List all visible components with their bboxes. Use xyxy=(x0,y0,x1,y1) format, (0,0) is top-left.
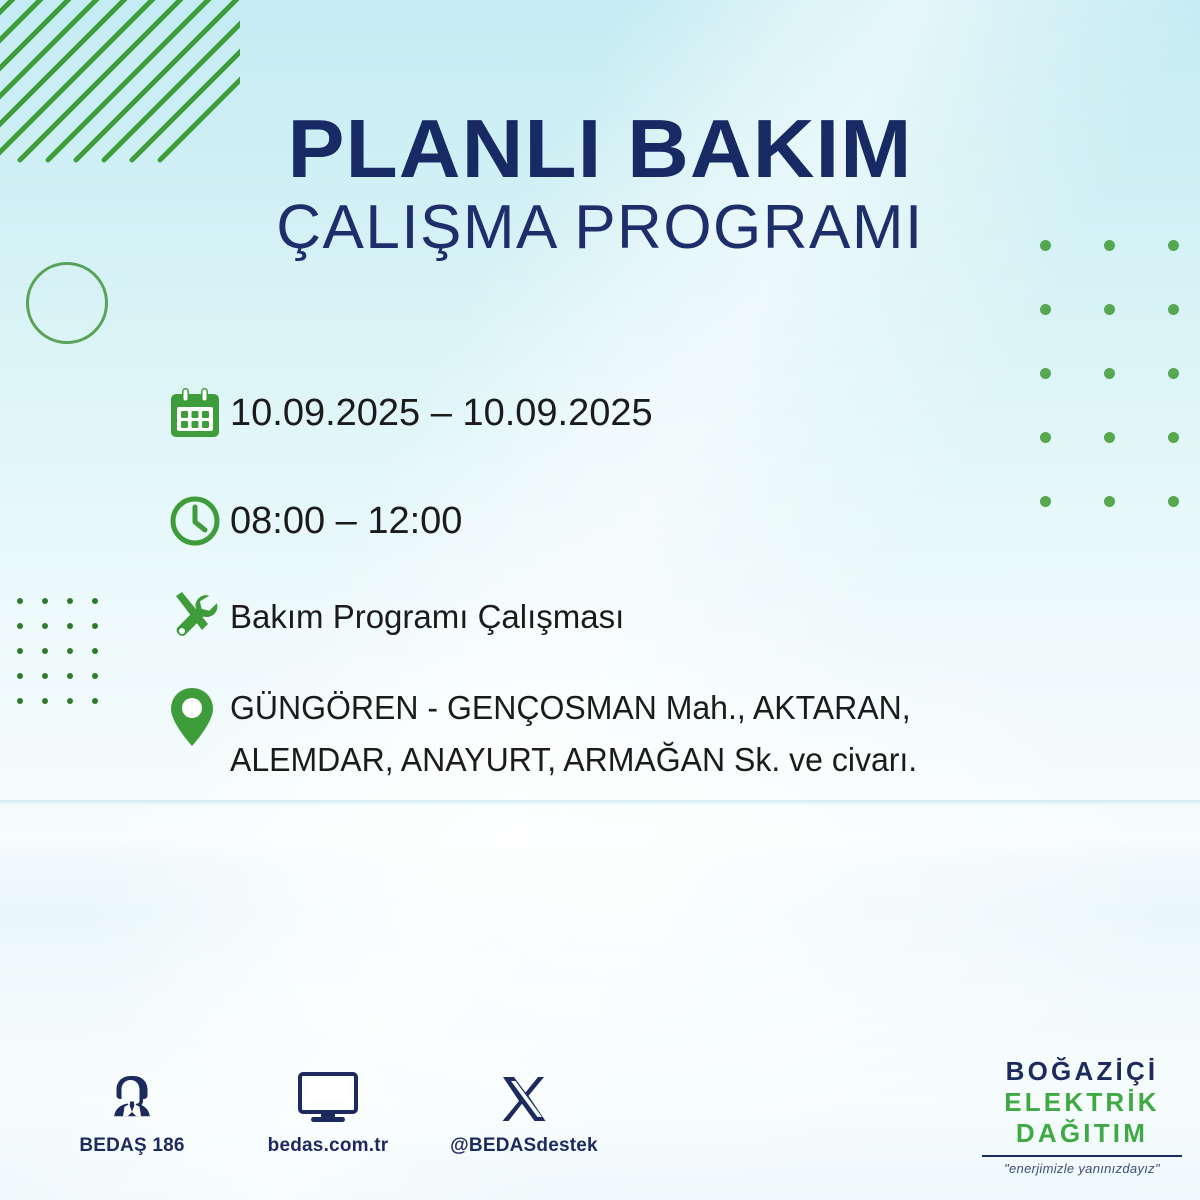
info-row-date: 10.09.2025 – 10.09.2025 xyxy=(168,382,1128,482)
location-line-2: ALEMDAR, ANAYURT, ARMAĞAN Sk. ve civarı. xyxy=(230,734,917,786)
page-subtitle: ÇALIŞMA PROGRAMI xyxy=(0,195,1200,262)
info-list: 10.09.2025 – 10.09.2025 08:00 – 12:00 xyxy=(168,382,1128,794)
info-row-work-type: Bakım Programı Çalışması xyxy=(168,586,1128,674)
calendar-icon xyxy=(168,382,230,444)
map-pin-icon xyxy=(168,682,230,748)
brand-logo-tagline: "enerjimizle yanınızdayız" xyxy=(976,1161,1188,1176)
location-line-1: GÜNGÖREN - GENÇOSMAN Mah., AKTARAN, xyxy=(230,682,917,734)
date-range-value: 10.09.2025 – 10.09.2025 xyxy=(230,382,653,444)
tools-icon xyxy=(168,586,230,648)
x-social-icon xyxy=(448,1068,600,1124)
monitor-icon xyxy=(252,1068,404,1124)
poster-heading: PLANLI BAKIM ÇALIŞMA PROGRAMI xyxy=(0,108,1200,262)
footer-contacts: BEDAŞ 186 bedas.com.tr xyxy=(56,1068,600,1157)
brand-logo-line-1: BOĞAZİÇİ xyxy=(976,1056,1188,1087)
info-row-location: GÜNGÖREN - GENÇOSMAN Mah., AKTARAN, ALEM… xyxy=(168,682,1128,786)
contact-website-label: bedas.com.tr xyxy=(252,1135,404,1157)
clock-icon xyxy=(168,490,230,552)
brand-logo: BOĞAZİÇİ ELEKTRİK DAĞITIM "enerjimizle y… xyxy=(976,1056,1188,1176)
work-type-value: Bakım Programı Çalışması xyxy=(230,586,624,648)
brand-logo-line-3: DAĞITIM xyxy=(976,1118,1188,1149)
contact-social[interactable]: @BEDASdestek xyxy=(448,1068,600,1157)
page-title: PLANLI BAKIM xyxy=(0,108,1200,189)
contact-phone[interactable]: BEDAŞ 186 xyxy=(56,1068,208,1157)
contact-website[interactable]: bedas.com.tr xyxy=(252,1068,404,1157)
planned-maintenance-poster: PLANLI BAKIM ÇALIŞMA PROGRAMI xyxy=(0,0,1200,1200)
circle-outline-decoration xyxy=(26,262,108,344)
info-row-time: 08:00 – 12:00 xyxy=(168,490,1128,578)
dot-grid-left-decoration xyxy=(17,598,117,723)
background-band-divider xyxy=(0,800,1200,806)
brand-logo-line-2: ELEKTRİK xyxy=(976,1087,1188,1118)
brand-logo-divider xyxy=(982,1155,1182,1157)
location-value: GÜNGÖREN - GENÇOSMAN Mah., AKTARAN, ALEM… xyxy=(230,682,917,786)
time-range-value: 08:00 – 12:00 xyxy=(230,490,462,552)
headset-agent-icon xyxy=(56,1068,208,1124)
contact-social-label: @BEDASdestek xyxy=(448,1135,600,1157)
contact-phone-label: BEDAŞ 186 xyxy=(56,1135,208,1157)
